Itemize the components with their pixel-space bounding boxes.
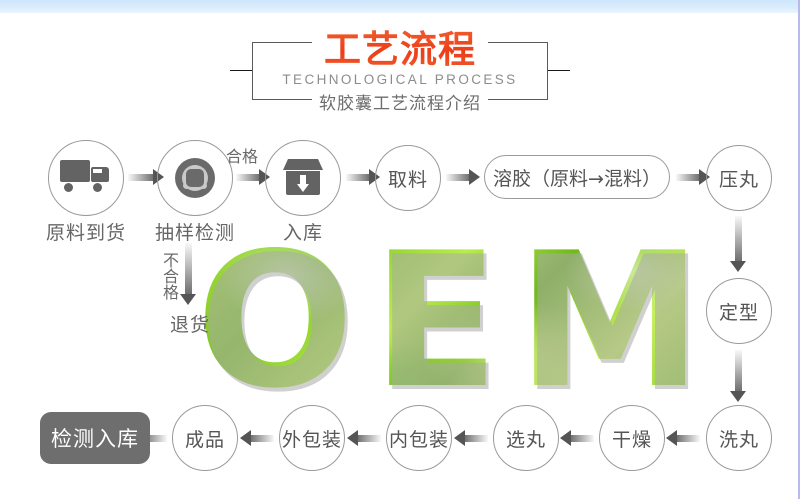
top-blue-strip	[0, 0, 800, 13]
inbox-archive-icon	[283, 159, 323, 197]
node-outer-packaging[interactable]: 外包装	[279, 405, 345, 471]
node-label-finished-product: 成品	[185, 425, 225, 452]
node-final-inspection-storage[interactable]: 检测入库	[40, 412, 150, 464]
edge-label-fail: 不合格	[157, 252, 181, 300]
node-finished-product[interactable]: 成品	[172, 405, 238, 471]
arrow-gel-to-pressing	[676, 169, 710, 186]
edge-label-pass: 合格	[226, 143, 258, 167]
node-label-inner-packaging: 内包装	[389, 425, 449, 452]
node-label-warehouse-in: 入库	[263, 218, 343, 245]
node-raw-material-arrival[interactable]	[48, 140, 124, 216]
node-pill-selecting[interactable]: 选丸	[493, 405, 559, 471]
arrow-washing-to-drying	[666, 430, 700, 447]
node-gel-dissolving[interactable]: 溶胶（原料→混料）	[484, 155, 670, 199]
arrow-shaping-to-washing	[730, 350, 747, 402]
node-label-final-inspection-storage: 检测入库	[51, 423, 139, 453]
node-label-gel-dissolving: 溶胶（原料→混料）	[493, 164, 661, 191]
header: 工艺流程 TECHNOLOGICAL PROCESS 软胶囊工艺流程介绍	[0, 13, 800, 113]
page-description: 软胶囊工艺流程介绍	[0, 93, 800, 115]
node-material-pickup[interactable]: 取料	[375, 145, 441, 211]
arrow-inner-to-outer-packaging	[347, 430, 381, 447]
arrow-pickup-to-gel	[446, 169, 480, 186]
arrow-pressing-to-shaping	[730, 216, 747, 272]
arrow-outer-packaging-to-finished	[240, 430, 274, 447]
node-label-sampling-inspection: 抽样检测	[145, 218, 245, 245]
node-pill-washing[interactable]: 洗丸	[706, 405, 772, 471]
node-pill-pressing[interactable]: 压丸	[706, 145, 772, 211]
node-label-drying: 干燥	[612, 425, 652, 452]
node-label-return-goods: 退货	[150, 310, 230, 337]
page-title: 工艺流程	[0, 30, 800, 70]
arrow-fail-to-return	[180, 243, 197, 305]
arrow-drying-to-selecting	[560, 430, 594, 447]
node-label-pill-selecting: 选丸	[506, 425, 546, 452]
node-label-raw-material-arrival: 原料到货	[36, 218, 136, 245]
arrow-selecting-to-inner-packaging	[454, 430, 488, 447]
process-flow-infographic: 工艺流程 TECHNOLOGICAL PROCESS 软胶囊工艺流程介绍 OEM…	[0, 0, 800, 499]
node-shaping[interactable]: 定型	[706, 278, 772, 344]
delivery-truck-icon	[60, 158, 112, 198]
node-drying[interactable]: 干燥	[599, 405, 665, 471]
node-label-shaping: 定型	[719, 298, 759, 325]
node-inner-packaging[interactable]: 内包装	[386, 405, 452, 471]
node-warehouse-in[interactable]	[265, 140, 341, 216]
page-subtitle: TECHNOLOGICAL PROCESS	[0, 72, 800, 88]
node-sampling-inspection[interactable]	[157, 140, 233, 216]
inspection-icon	[175, 158, 215, 198]
oem-watermark: OEM	[196, 232, 708, 410]
node-label-pill-pressing: 压丸	[719, 165, 759, 192]
node-label-outer-packaging: 外包装	[282, 425, 342, 452]
node-label-material-pickup: 取料	[388, 165, 428, 192]
node-label-pill-washing: 洗丸	[719, 425, 759, 452]
